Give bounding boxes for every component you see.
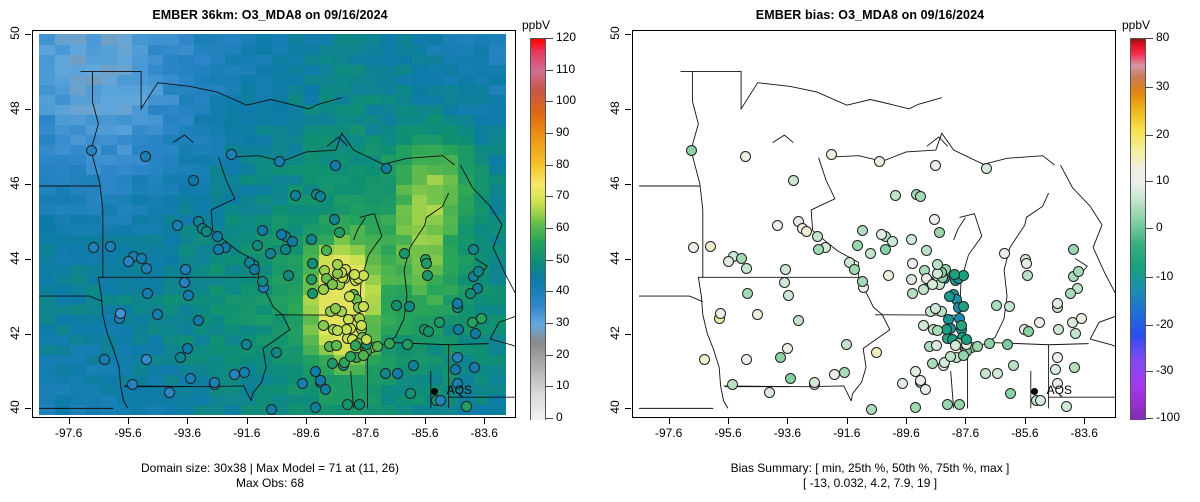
caption-line: [ -13, 0.032, 4.2, 7.9, 19 ] <box>600 476 1140 491</box>
colorbar-tick-label: -30 <box>1156 363 1173 377</box>
bias-site-marker <box>1069 362 1080 373</box>
bias-site-marker <box>1068 244 1079 255</box>
bias-site-marker <box>812 231 823 242</box>
obs-site-marker <box>290 190 301 201</box>
bias-site-marker <box>949 269 960 280</box>
obs-site-marker <box>473 266 484 277</box>
x-axis-label: -89.6 <box>876 426 936 440</box>
colorbar-tick <box>1146 228 1153 229</box>
colorbar-model-title: ppbV <box>522 18 550 32</box>
bias-site-marker <box>932 259 943 270</box>
x-axis-tick <box>306 418 307 424</box>
bias-site-marker <box>780 264 791 275</box>
obs-site-marker <box>188 175 199 186</box>
obs-site-marker <box>405 388 416 399</box>
obs-site-marker <box>468 244 479 255</box>
bias-site-marker <box>956 320 967 331</box>
obs-site-marker <box>469 362 480 373</box>
y-axis-tick <box>625 334 631 335</box>
y-axis-tick <box>625 34 631 35</box>
bias-site-marker <box>705 241 716 252</box>
bias-site-marker <box>857 276 868 287</box>
colorbar-tick <box>1146 87 1153 88</box>
colorbar-tick <box>546 196 553 197</box>
obs-site-marker <box>307 288 318 299</box>
x-axis-label: -87.6 <box>335 426 395 440</box>
plot-area-model <box>32 30 516 418</box>
x-axis-label: -95.6 <box>698 426 758 440</box>
bias-site-marker <box>813 244 824 255</box>
y-axis-label: 48 <box>8 93 22 123</box>
obs-site-marker <box>476 313 487 324</box>
y-axis-tick <box>25 259 31 260</box>
obs-site-marker <box>306 234 317 245</box>
colorbar-tick-label: -100 <box>1156 410 1180 424</box>
obs-site-marker <box>380 368 391 379</box>
x-axis-label: -93.6 <box>157 426 217 440</box>
x-axis-tick <box>1084 418 1085 424</box>
colorbar-tick-label: 60 <box>556 220 569 234</box>
colorbar-tick-label: 90 <box>556 125 569 139</box>
x-axis-tick <box>728 418 729 424</box>
bias-site-marker <box>1022 270 1033 281</box>
obs-site-marker <box>88 242 99 253</box>
bias-site-marker <box>907 288 918 299</box>
bias-site-marker <box>910 402 921 413</box>
bias-site-marker <box>783 290 794 301</box>
colorbar-tick-label: 80 <box>1156 30 1169 44</box>
colorbar-tick <box>1146 38 1153 39</box>
x-axis-label: -95.6 <box>98 426 158 440</box>
y-axis-tick <box>25 334 31 335</box>
obs-site-marker <box>271 347 282 358</box>
bias-site-marker <box>1061 401 1072 412</box>
obs-site-marker <box>180 264 191 275</box>
bias-site-marker <box>852 240 863 251</box>
x-axis-tick <box>187 418 188 424</box>
obs-site-marker <box>452 352 463 363</box>
figure-root: EMBER 36km: O3_MDA8 on 09/16/2024 -97.6-… <box>0 0 1200 502</box>
y-axis-label: 50 <box>8 18 22 48</box>
obs-site-marker <box>213 244 224 255</box>
y-axis-tick <box>625 259 631 260</box>
colorbar-tick-label: 110 <box>556 62 575 76</box>
obs-site-marker <box>422 270 433 281</box>
x-axis-label: -97.6 <box>639 426 699 440</box>
bias-site-marker <box>742 288 753 299</box>
obs-site-marker <box>350 340 361 351</box>
bias-site-marker <box>958 350 969 361</box>
colorbar-tick-label: 0 <box>1156 220 1163 234</box>
colorbar-bias-gradient <box>1130 38 1146 420</box>
colorbar-tick-label: 30 <box>556 315 569 329</box>
bias-site-marker <box>849 264 860 275</box>
bias-site-marker <box>727 379 738 390</box>
x-axis-tick <box>847 418 848 424</box>
obs-site-marker <box>381 163 392 174</box>
obs-site-marker <box>265 248 276 259</box>
bias-site-marker <box>1023 326 1034 337</box>
obs-site-marker <box>402 339 413 350</box>
y-axis-label: 48 <box>608 93 622 123</box>
colorbar-tick-label: 100 <box>556 93 576 107</box>
colorbar-tick <box>546 323 553 324</box>
y-axis-label: 40 <box>608 392 622 422</box>
obs-site-marker <box>283 270 294 281</box>
obs-site-marker <box>372 341 383 352</box>
colorbar-tick <box>546 228 553 229</box>
colorbar-bias-title: ppbV <box>1122 18 1150 32</box>
y-axis-tick <box>25 408 31 409</box>
y-axis-label: 44 <box>8 243 22 273</box>
obs-site-marker <box>315 191 326 202</box>
bias-site-marker <box>865 248 876 259</box>
x-axis-tick <box>787 418 788 424</box>
y-axis-tick <box>625 109 631 110</box>
bias-site-marker <box>954 399 965 410</box>
bias-site-marker <box>1034 317 1045 328</box>
colorbar-tick <box>1146 325 1153 326</box>
colorbar-tick <box>1146 135 1153 136</box>
obs-site-marker <box>141 263 152 274</box>
x-axis-tick <box>69 418 70 424</box>
x-axis-tick <box>669 418 670 424</box>
bias-site-marker <box>741 263 752 274</box>
colorbar-tick <box>1146 181 1153 182</box>
x-axis-tick <box>365 418 366 424</box>
bias-site-marker <box>772 220 783 231</box>
bias-site-marker <box>1052 298 1063 309</box>
colorbar-tick-label: 10 <box>1156 173 1169 187</box>
obs-site-marker <box>212 231 223 242</box>
caption-line: Bias Summary: [ min, 25th %, 50th %, 75t… <box>600 461 1140 476</box>
legend-aqs-label: AQS <box>447 383 472 397</box>
aqs-marker-icon <box>1031 388 1038 395</box>
colorbar-tick <box>546 70 553 71</box>
bias-site-marker <box>907 258 918 269</box>
obs-site-marker <box>452 298 463 309</box>
y-axis-label: 46 <box>608 168 622 198</box>
colorbar-tick-label: 0 <box>556 410 563 424</box>
x-axis-label: -85.6 <box>995 426 1055 440</box>
y-axis-tick <box>25 109 31 110</box>
bias-site-marker <box>887 236 898 247</box>
obs-site-marker <box>252 240 263 251</box>
obs-site-marker <box>356 320 367 331</box>
x-axis-label: -91.6 <box>217 426 277 440</box>
obs-site-marker <box>434 317 445 328</box>
x-axis-label: -83.6 <box>1054 426 1114 440</box>
obs-site-marker <box>461 401 472 412</box>
x-axis-tick <box>247 418 248 424</box>
y-axis-tick <box>25 184 31 185</box>
obs-site-marker <box>127 379 138 390</box>
bias-site-marker <box>699 354 710 365</box>
legend-aqs-label: AQS <box>1047 383 1072 397</box>
x-axis-tick <box>1025 418 1026 424</box>
panel-model: EMBER 36km: O3_MDA8 on 09/16/2024 -97.6-… <box>0 0 600 502</box>
y-axis-label: 42 <box>8 318 22 348</box>
bias-site-marker <box>1005 388 1016 399</box>
bias-site-marker <box>920 384 931 395</box>
panel-bias: EMBER bias: O3_MDA8 on 09/16/2024 -97.6-… <box>600 0 1200 502</box>
colorbar-tick <box>546 133 553 134</box>
bias-site-marker <box>1070 328 1081 339</box>
obs-site-marker <box>257 276 268 287</box>
x-axis-label: -97.6 <box>39 426 99 440</box>
bias-site-marker <box>950 340 961 351</box>
y-axis-label: 42 <box>608 318 622 348</box>
obs-site-marker <box>105 241 116 252</box>
colorbar-tick-label: -10 <box>1156 269 1173 283</box>
obs-site-marker <box>183 290 194 301</box>
bias-site-marker <box>874 156 885 167</box>
bias-site-marker <box>991 300 1002 311</box>
obs-site-marker <box>450 364 461 375</box>
colorbar-tick <box>546 418 553 419</box>
colorbar-tick-label: 80 <box>556 157 569 171</box>
obs-site-marker <box>404 301 415 312</box>
colorbar-tick <box>1146 277 1153 278</box>
bias-site-marker <box>740 151 751 162</box>
bias-site-marker <box>839 367 850 378</box>
bias-site-marker <box>1004 301 1015 312</box>
obs-site-marker <box>175 352 186 363</box>
obs-site-marker <box>249 264 260 275</box>
bias-site-marker <box>1002 339 1013 350</box>
bias-site-marker <box>1076 313 1087 324</box>
bias-site-marker <box>775 352 786 363</box>
obs-site-marker <box>274 156 285 167</box>
bias-site-marker <box>972 341 983 352</box>
colorbar-segment <box>1131 417 1145 420</box>
obs-site-marker <box>354 399 365 410</box>
y-axis-label: 46 <box>8 168 22 198</box>
x-axis-label: -83.6 <box>454 426 514 440</box>
bias-site-marker <box>876 229 887 240</box>
colorbar-segment <box>531 417 545 420</box>
bias-site-marker <box>915 191 926 202</box>
x-axis-tick <box>425 418 426 424</box>
caption-line: Max Obs: 68 <box>0 476 540 491</box>
bias-site-marker <box>809 377 820 388</box>
colorbar-tick <box>546 355 553 356</box>
bias-site-marker <box>883 270 894 281</box>
obs-site-marker <box>320 384 331 395</box>
obs-site-marker <box>470 328 481 339</box>
colorbar-tick-label: -20 <box>1156 317 1173 331</box>
bias-site-marker <box>1050 364 1061 375</box>
colorbar-tick <box>546 386 553 387</box>
obs-site-marker <box>349 269 360 280</box>
y-axis-tick <box>625 408 631 409</box>
obs-site-marker <box>358 350 369 361</box>
y-axis-label: 40 <box>8 392 22 422</box>
y-axis-tick <box>625 184 631 185</box>
legend-aqs-bias: AQS <box>1031 383 1072 397</box>
colorbar-tick-label: 120 <box>556 30 576 44</box>
y-axis-tick <box>25 34 31 35</box>
caption-line: Domain size: 30x38 | Max Model = 71 at (… <box>0 461 540 476</box>
colorbar-tick-label: 20 <box>556 347 569 361</box>
obs-site-marker <box>465 288 476 299</box>
obs-site-marker <box>287 236 298 247</box>
obs-site-marker <box>421 258 432 269</box>
obs-site-marker <box>391 300 402 311</box>
obs-site-marker <box>310 402 321 413</box>
bias-site-marker <box>1021 258 1032 269</box>
obs-site-marker <box>332 259 343 270</box>
obs-site-marker <box>239 367 250 378</box>
obs-site-marker <box>344 291 355 302</box>
obs-site-marker <box>423 326 434 337</box>
colorbar-tick <box>546 38 553 39</box>
bias-site-marker <box>1073 266 1084 277</box>
x-axis-label: -91.6 <box>817 426 877 440</box>
x-axis-tick <box>128 418 129 424</box>
obs-site-marker <box>140 151 151 162</box>
bias-site-marker <box>1065 288 1076 299</box>
bias-site-marker <box>688 242 699 253</box>
colorbar-model-gradient <box>530 38 546 420</box>
aqs-marker-icon <box>431 388 438 395</box>
y-axis-label: 44 <box>608 243 622 273</box>
colorbar-tick <box>1146 371 1153 372</box>
colorbar-tick-label: 30 <box>1156 79 1169 93</box>
caption-bias: Bias Summary: [ min, 25th %, 50th %, 75t… <box>600 461 1140 491</box>
colorbar-tick <box>1146 418 1153 419</box>
colorbar-tick-label: 10 <box>556 378 569 392</box>
x-axis-label: -87.6 <box>935 426 995 440</box>
bias-site-marker <box>931 340 942 351</box>
bias-site-marker <box>944 291 955 302</box>
bias-site-marker <box>788 175 799 186</box>
x-axis-label: -93.6 <box>757 426 817 440</box>
colorbar-tick-label: 70 <box>556 188 569 202</box>
bias-site-marker <box>871 347 882 358</box>
obs-site-marker <box>276 229 287 240</box>
x-axis-tick <box>484 418 485 424</box>
obs-site-marker <box>331 340 342 351</box>
bias-site-marker <box>981 163 992 174</box>
x-axis-label: -89.6 <box>276 426 336 440</box>
colorbar-tick <box>546 291 553 292</box>
legend-aqs-model: AQS <box>431 383 472 397</box>
colorbar-tick <box>546 260 553 261</box>
colorbar-tick-label: 20 <box>1156 127 1169 141</box>
x-axis-label: -85.6 <box>395 426 455 440</box>
obs-site-marker <box>172 220 183 231</box>
colorbar-tick <box>546 101 553 102</box>
caption-model: Domain size: 30x38 | Max Model = 71 at (… <box>0 461 540 491</box>
bias-site-marker <box>980 368 991 379</box>
bias-site-marker <box>890 190 901 201</box>
x-axis-tick <box>906 418 907 424</box>
obs-site-marker <box>209 377 220 388</box>
x-axis-tick <box>965 418 966 424</box>
obs-site-marker <box>307 258 318 269</box>
colorbar-tick <box>546 165 553 166</box>
panel-bias-title: EMBER bias: O3_MDA8 on 09/16/2024 <box>600 8 1140 22</box>
obs-site-marker <box>99 354 110 365</box>
plot-area-bias <box>632 30 1116 418</box>
bias-site-marker <box>1052 352 1063 363</box>
colorbar-tick-label: 50 <box>556 252 569 266</box>
colorbar-tick-label: 40 <box>556 283 569 297</box>
panel-model-title: EMBER 36km: O3_MDA8 on 09/16/2024 <box>0 8 540 22</box>
y-axis-label: 50 <box>608 18 622 48</box>
bias-site-marker <box>906 234 917 245</box>
obs-site-marker <box>142 288 153 299</box>
